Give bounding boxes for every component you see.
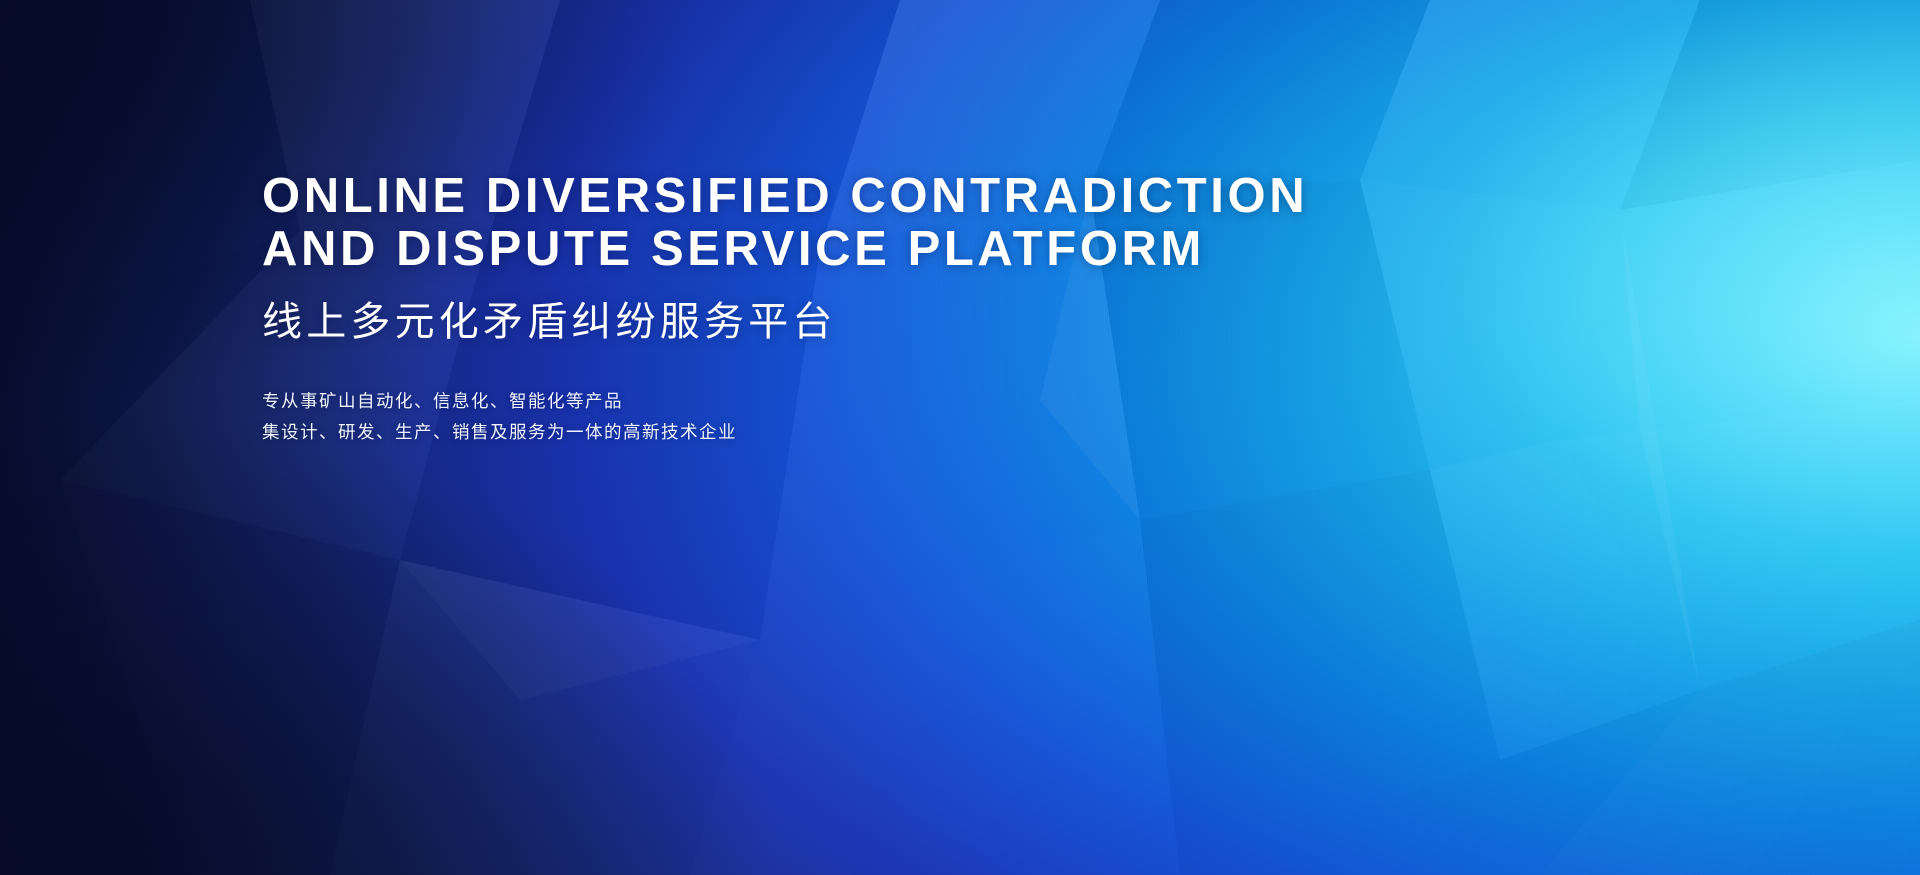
hero-content: ONLINE DIVERSIFIED CONTRADICTION AND DIS… (262, 170, 1662, 448)
hero-banner: ONLINE DIVERSIFIED CONTRADICTION AND DIS… (0, 0, 1920, 875)
tagline-block: 专从事矿山自动化、信息化、智能化等产品 集设计、研发、生产、销售及服务为一体的高… (262, 386, 1662, 448)
headline-english-line-1: ONLINE DIVERSIFIED CONTRADICTION (262, 170, 1662, 223)
headline-english-line-2: AND DISPUTE SERVICE PLATFORM (262, 223, 1662, 276)
tagline-line-2: 集设计、研发、生产、销售及服务为一体的高新技术企业 (262, 417, 1662, 448)
tagline-line-1: 专从事矿山自动化、信息化、智能化等产品 (262, 386, 1662, 417)
headline-chinese: 线上多元化矛盾纠纷服务平台 (262, 298, 1662, 346)
